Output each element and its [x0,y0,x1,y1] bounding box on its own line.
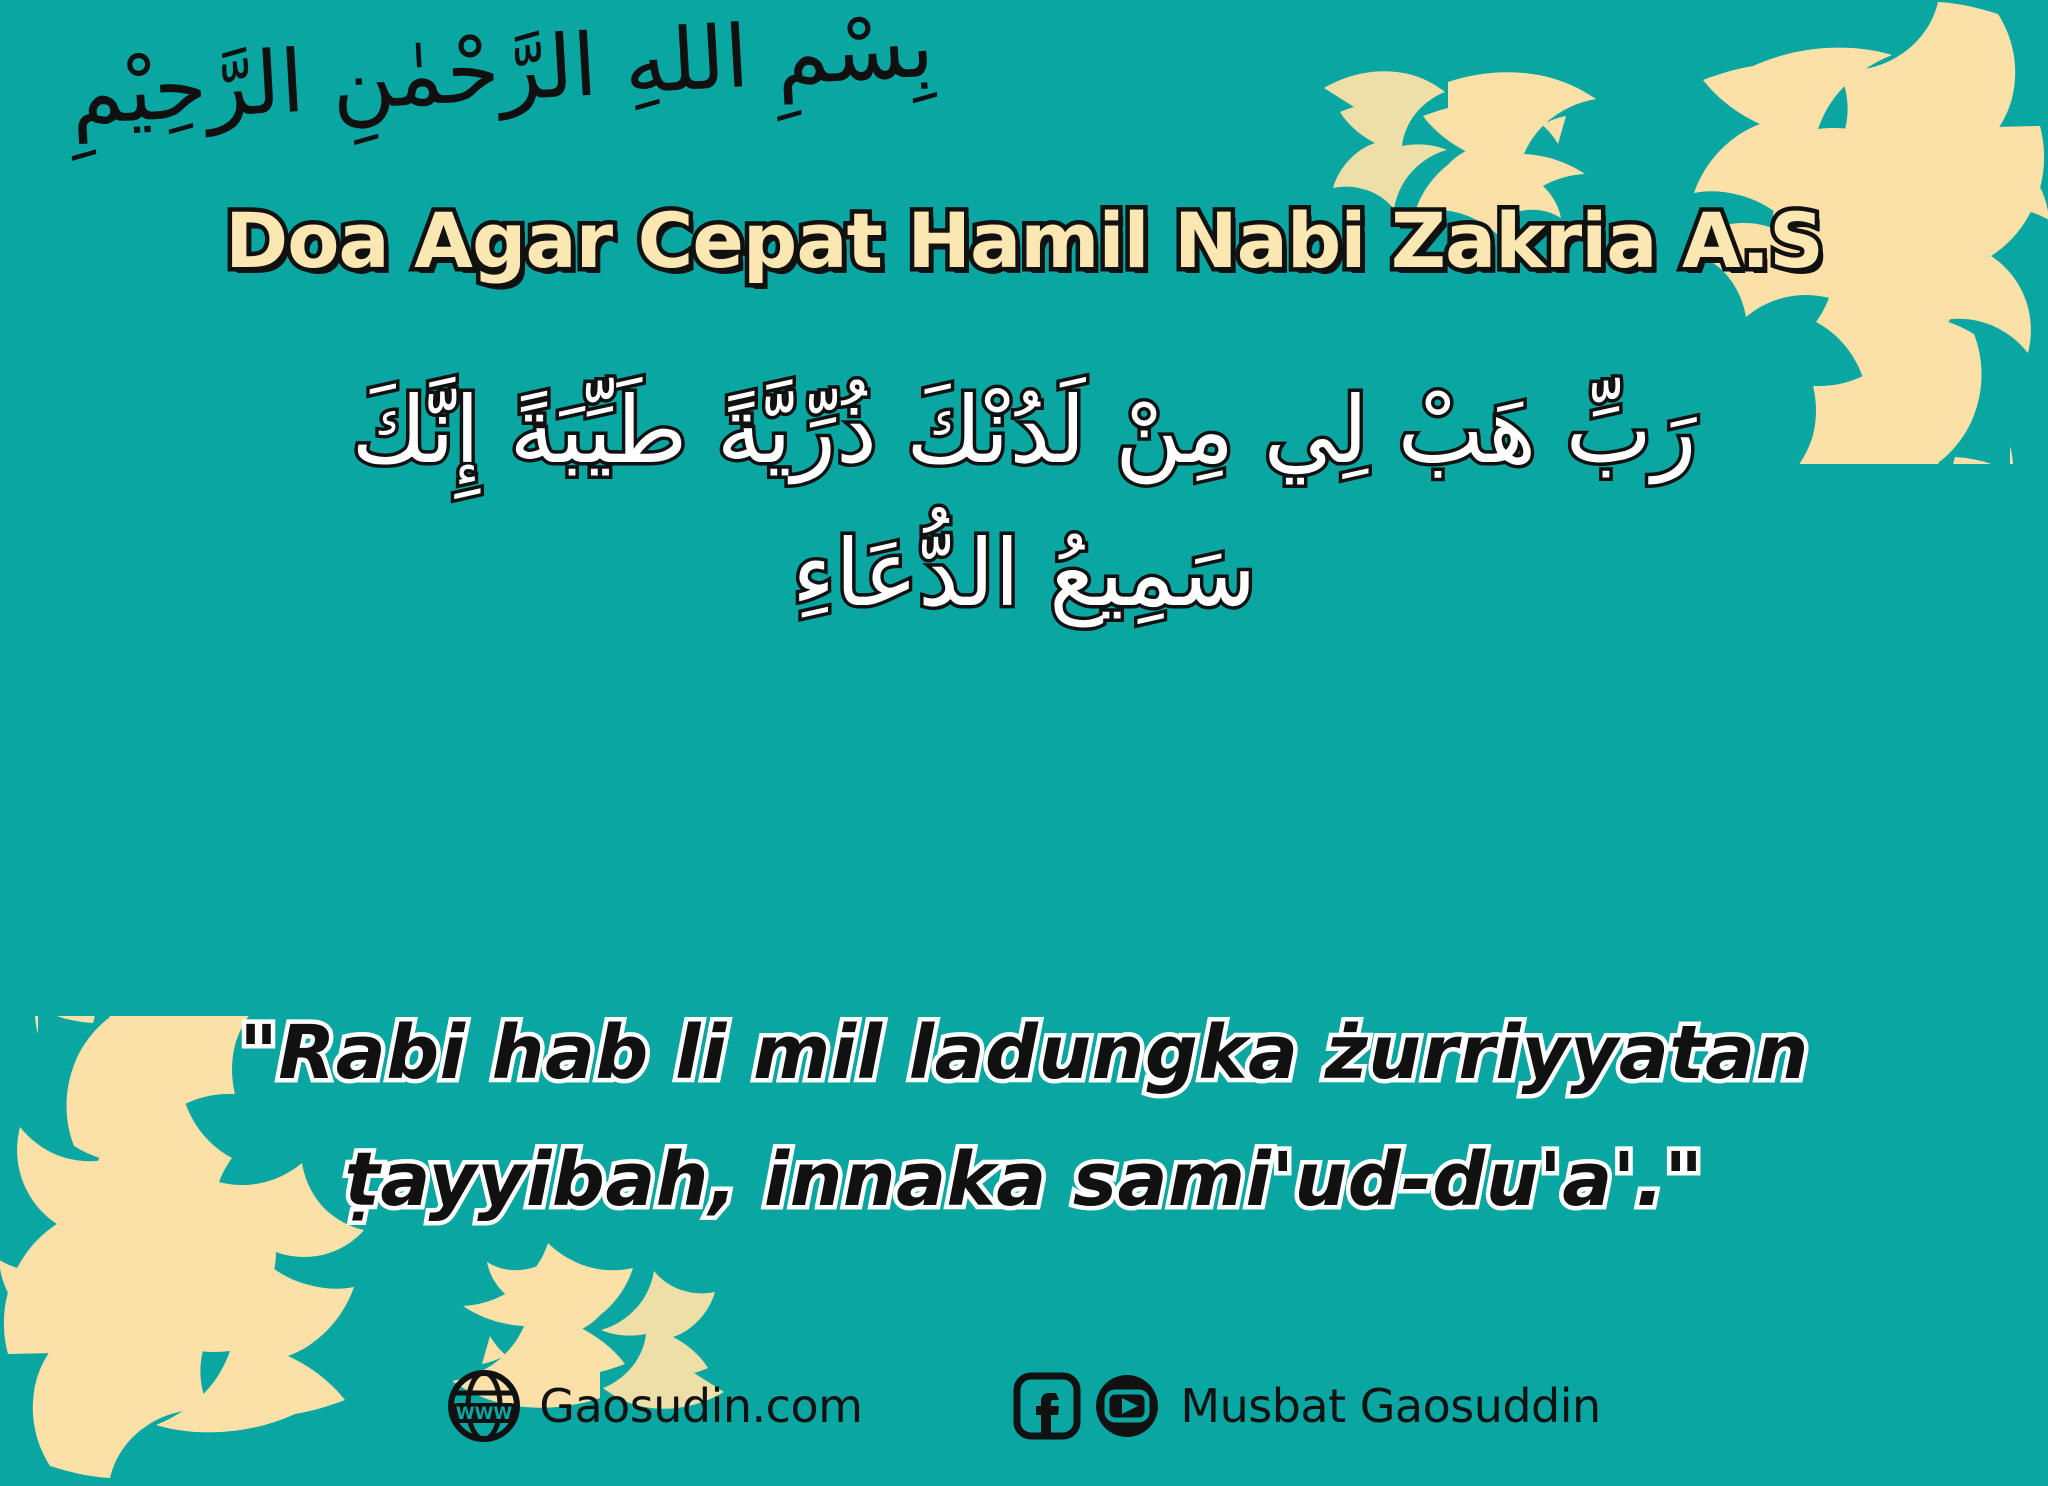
youtube-icon[interactable] [1092,1371,1162,1441]
globe-www-icon: WWW [447,1369,521,1443]
svg-text:WWW: WWW [456,1404,513,1424]
arabic-verse: رَبِّ هَبْ لِي مِنْ لَدُنْكَ ذُرِّيَّةً … [140,360,1908,720]
verse-line-2: سَمِيعُ الدُّعَاءِ [140,503,1908,646]
poster-canvas: بِسْمِ اللهِ الرَّحْمٰنِ الرَّحِيْمِ Doa… [0,0,2048,1480]
transliteration-line-2: ṭayyibah, innaka sami'ud-du'a'." [150,1117,1898,1244]
transliteration-text: "Rabi hab li mil ladungka żurriyyatan ṭa… [150,990,1898,1245]
social-icon-group [1012,1371,1162,1441]
social-credit[interactable]: Musbat Gaosuddin [1012,1371,1600,1441]
footer: WWW Gaosudin.com [0,1358,2048,1454]
website-credit[interactable]: WWW Gaosudin.com [447,1369,862,1443]
verse-line-1: رَبِّ هَبْ لِي مِنْ لَدُنْكَ ذُرِّيَّةً … [140,360,1908,503]
social-label: Musbat Gaosuddin [1180,1379,1600,1433]
website-label: Gaosudin.com [539,1379,862,1433]
facebook-icon[interactable] [1012,1371,1082,1441]
bismillah-calligraphy: بِسْمِ اللهِ الرَّحْمٰنِ الرَّحِيْمِ [92,0,941,215]
page-title: Doa Agar Cepat Hamil Nabi Zakria A.S [0,196,2048,285]
transliteration-line-1: "Rabi hab li mil ladungka żurriyyatan [150,990,1898,1117]
